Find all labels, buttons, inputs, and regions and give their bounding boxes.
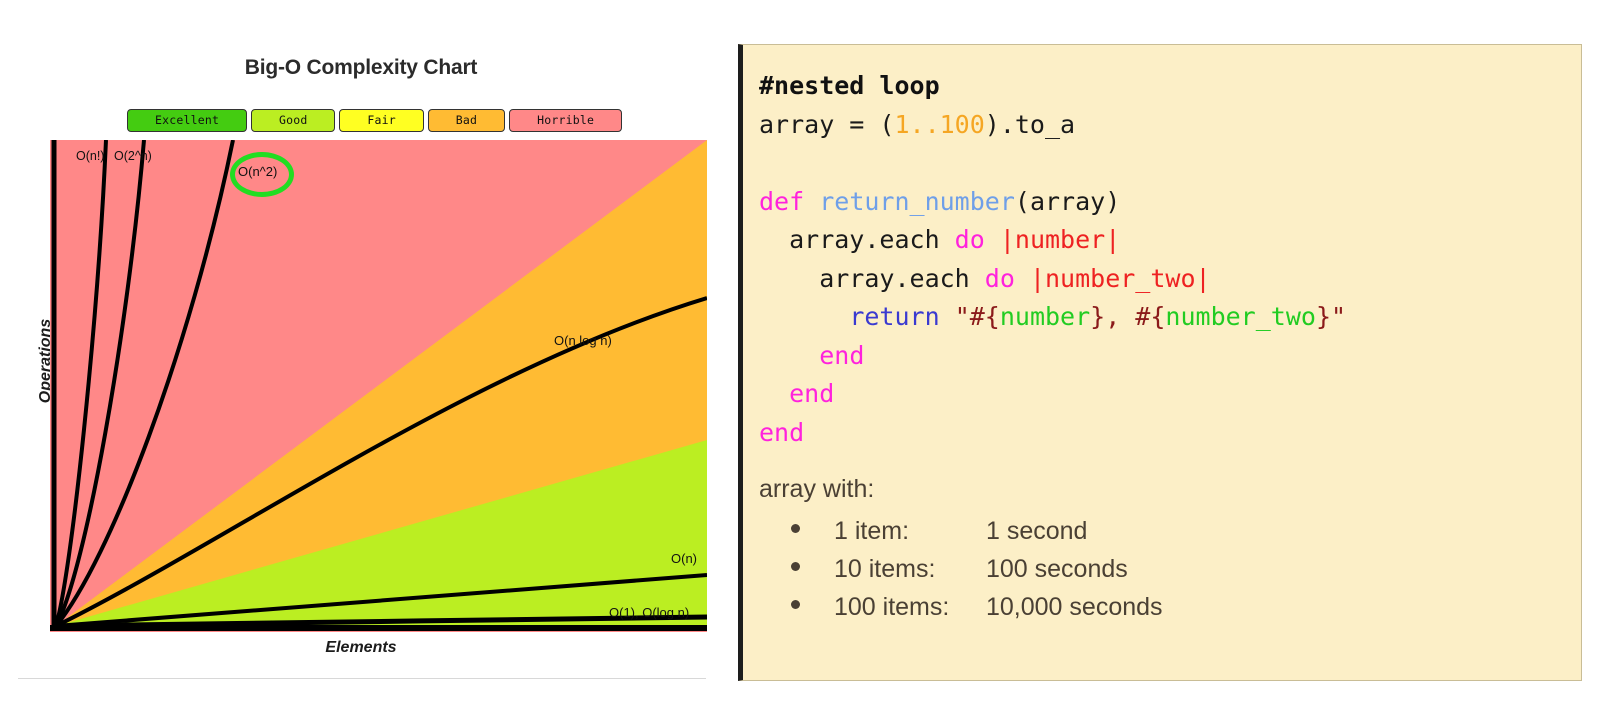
curve-label-two-pow-n: O(2^n): [114, 150, 152, 163]
curve-label-n-factorial: O(n!): [76, 150, 104, 163]
big-o-chart-panel: Big-O Complexity Chart ExcellentGoodFair…: [0, 0, 722, 706]
code-token: end: [819, 341, 864, 370]
notes-heading: array with:: [759, 472, 1581, 506]
code-token: #nested loop: [759, 71, 940, 100]
legend-badge-label: Excellent: [155, 115, 219, 127]
legend-badge-label: Bad: [456, 115, 477, 127]
legend-badge-bad: Bad: [428, 109, 505, 132]
code-token: "#{: [955, 302, 1000, 331]
curve-label-n-squared: O(n^2): [238, 165, 277, 178]
code-token: do: [955, 225, 985, 254]
complexity-notes: array with: 1 item:1 second10 items:100 …: [759, 472, 1581, 626]
note-item-value: 1 second: [986, 512, 1087, 550]
code-token: array = (: [759, 110, 894, 139]
code-example-panel: #nested loop array = (1..100).to_a def r…: [738, 44, 1582, 681]
code-token: number_two: [1165, 302, 1316, 331]
code-token: array.each: [759, 264, 985, 293]
code-token: (array): [1015, 187, 1120, 216]
bullet-icon: [791, 600, 800, 609]
x-axis-label: Elements: [0, 639, 722, 657]
code-token: [759, 379, 789, 408]
code-token: [940, 302, 955, 331]
note-item-value: 10,000 seconds: [986, 588, 1163, 626]
bullet-icon: [791, 524, 800, 533]
complexity-plot-svg: [50, 140, 707, 632]
legend-badge-excellent: Excellent: [127, 109, 247, 132]
legend-badge-label: Horrible: [537, 115, 594, 127]
code-token: ).to_a: [985, 110, 1075, 139]
code-token: 1..100: [894, 110, 984, 139]
code-token: end: [759, 418, 804, 447]
chart-title: Big-O Complexity Chart: [0, 56, 722, 80]
list-item: 1 item:1 second: [759, 512, 1581, 550]
code-token: def: [759, 187, 819, 216]
code-token: do: [985, 264, 1015, 293]
bullet-icon: [791, 562, 800, 571]
legend-badge-horrible: Horrible: [509, 109, 622, 132]
plot-area: O(n!) O(2^n) O(n^2) O(n log n) O(n) O(1)…: [50, 140, 707, 632]
notes-list: 1 item:1 second10 items:100 seconds100 i…: [759, 512, 1581, 626]
note-item-label: 1 item:: [834, 512, 986, 550]
code-token: |number|: [1000, 225, 1120, 254]
list-item: 10 items:100 seconds: [759, 550, 1581, 588]
code-token: }, #{: [1090, 302, 1165, 331]
list-item: 100 items:10,000 seconds: [759, 588, 1581, 626]
note-item-label: 10 items:: [834, 550, 986, 588]
ruby-code-block: #nested loop array = (1..100).to_a def r…: [759, 67, 1581, 452]
curve-label-constant-log: O(1), O(log n): [609, 606, 689, 619]
note-item-label: 100 items:: [834, 588, 986, 626]
legend-badge-label: Good: [279, 115, 308, 127]
code-token: end: [789, 379, 834, 408]
code-token: [1015, 264, 1030, 293]
code-token: [985, 225, 1000, 254]
code-token: return_number: [819, 187, 1015, 216]
legend-badge-label: Fair: [367, 115, 396, 127]
code-token: }": [1316, 302, 1346, 331]
code-token: [759, 302, 849, 331]
code-token: return: [849, 302, 939, 331]
chart-bottom-divider: [18, 678, 706, 679]
code-token: [759, 341, 819, 370]
legend-badge-fair: Fair: [339, 109, 423, 132]
code-token: |number_two|: [1030, 264, 1211, 293]
curve-label-n-log-n: O(n log n): [554, 334, 612, 347]
curve-label-n: O(n): [671, 552, 697, 565]
code-token: number: [1000, 302, 1090, 331]
note-item-value: 100 seconds: [986, 550, 1128, 588]
complexity-legend: ExcellentGoodFairBadHorrible: [127, 109, 622, 132]
code-token: array.each: [759, 225, 955, 254]
legend-badge-good: Good: [251, 109, 335, 132]
